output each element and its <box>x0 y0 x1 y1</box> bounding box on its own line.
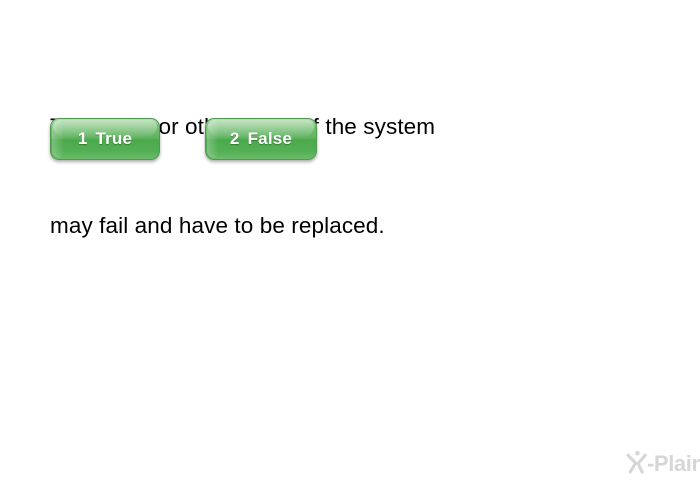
x-plain-logo: -Plain <box>624 448 698 476</box>
answer-button-true[interactable]: 1 True <box>50 118 160 160</box>
answer-button-true-text: True <box>95 129 132 149</box>
answer-button-false[interactable]: 2 False <box>205 118 317 160</box>
question-line-2: may fail and have to be replaced. <box>50 209 650 242</box>
answer-button-true-number: 1 <box>78 129 88 149</box>
answer-button-true-label: 1 True <box>51 119 159 159</box>
answer-button-false-number: 2 <box>230 129 240 149</box>
quiz-slide: The pump or other parts of the system ma… <box>0 0 700 480</box>
question-text: The pump or other parts of the system ma… <box>50 44 650 308</box>
answer-button-false-label: 2 False <box>206 119 316 159</box>
x-plain-logo-text: -Plain <box>647 453 700 475</box>
answer-button-false-text: False <box>248 129 292 149</box>
